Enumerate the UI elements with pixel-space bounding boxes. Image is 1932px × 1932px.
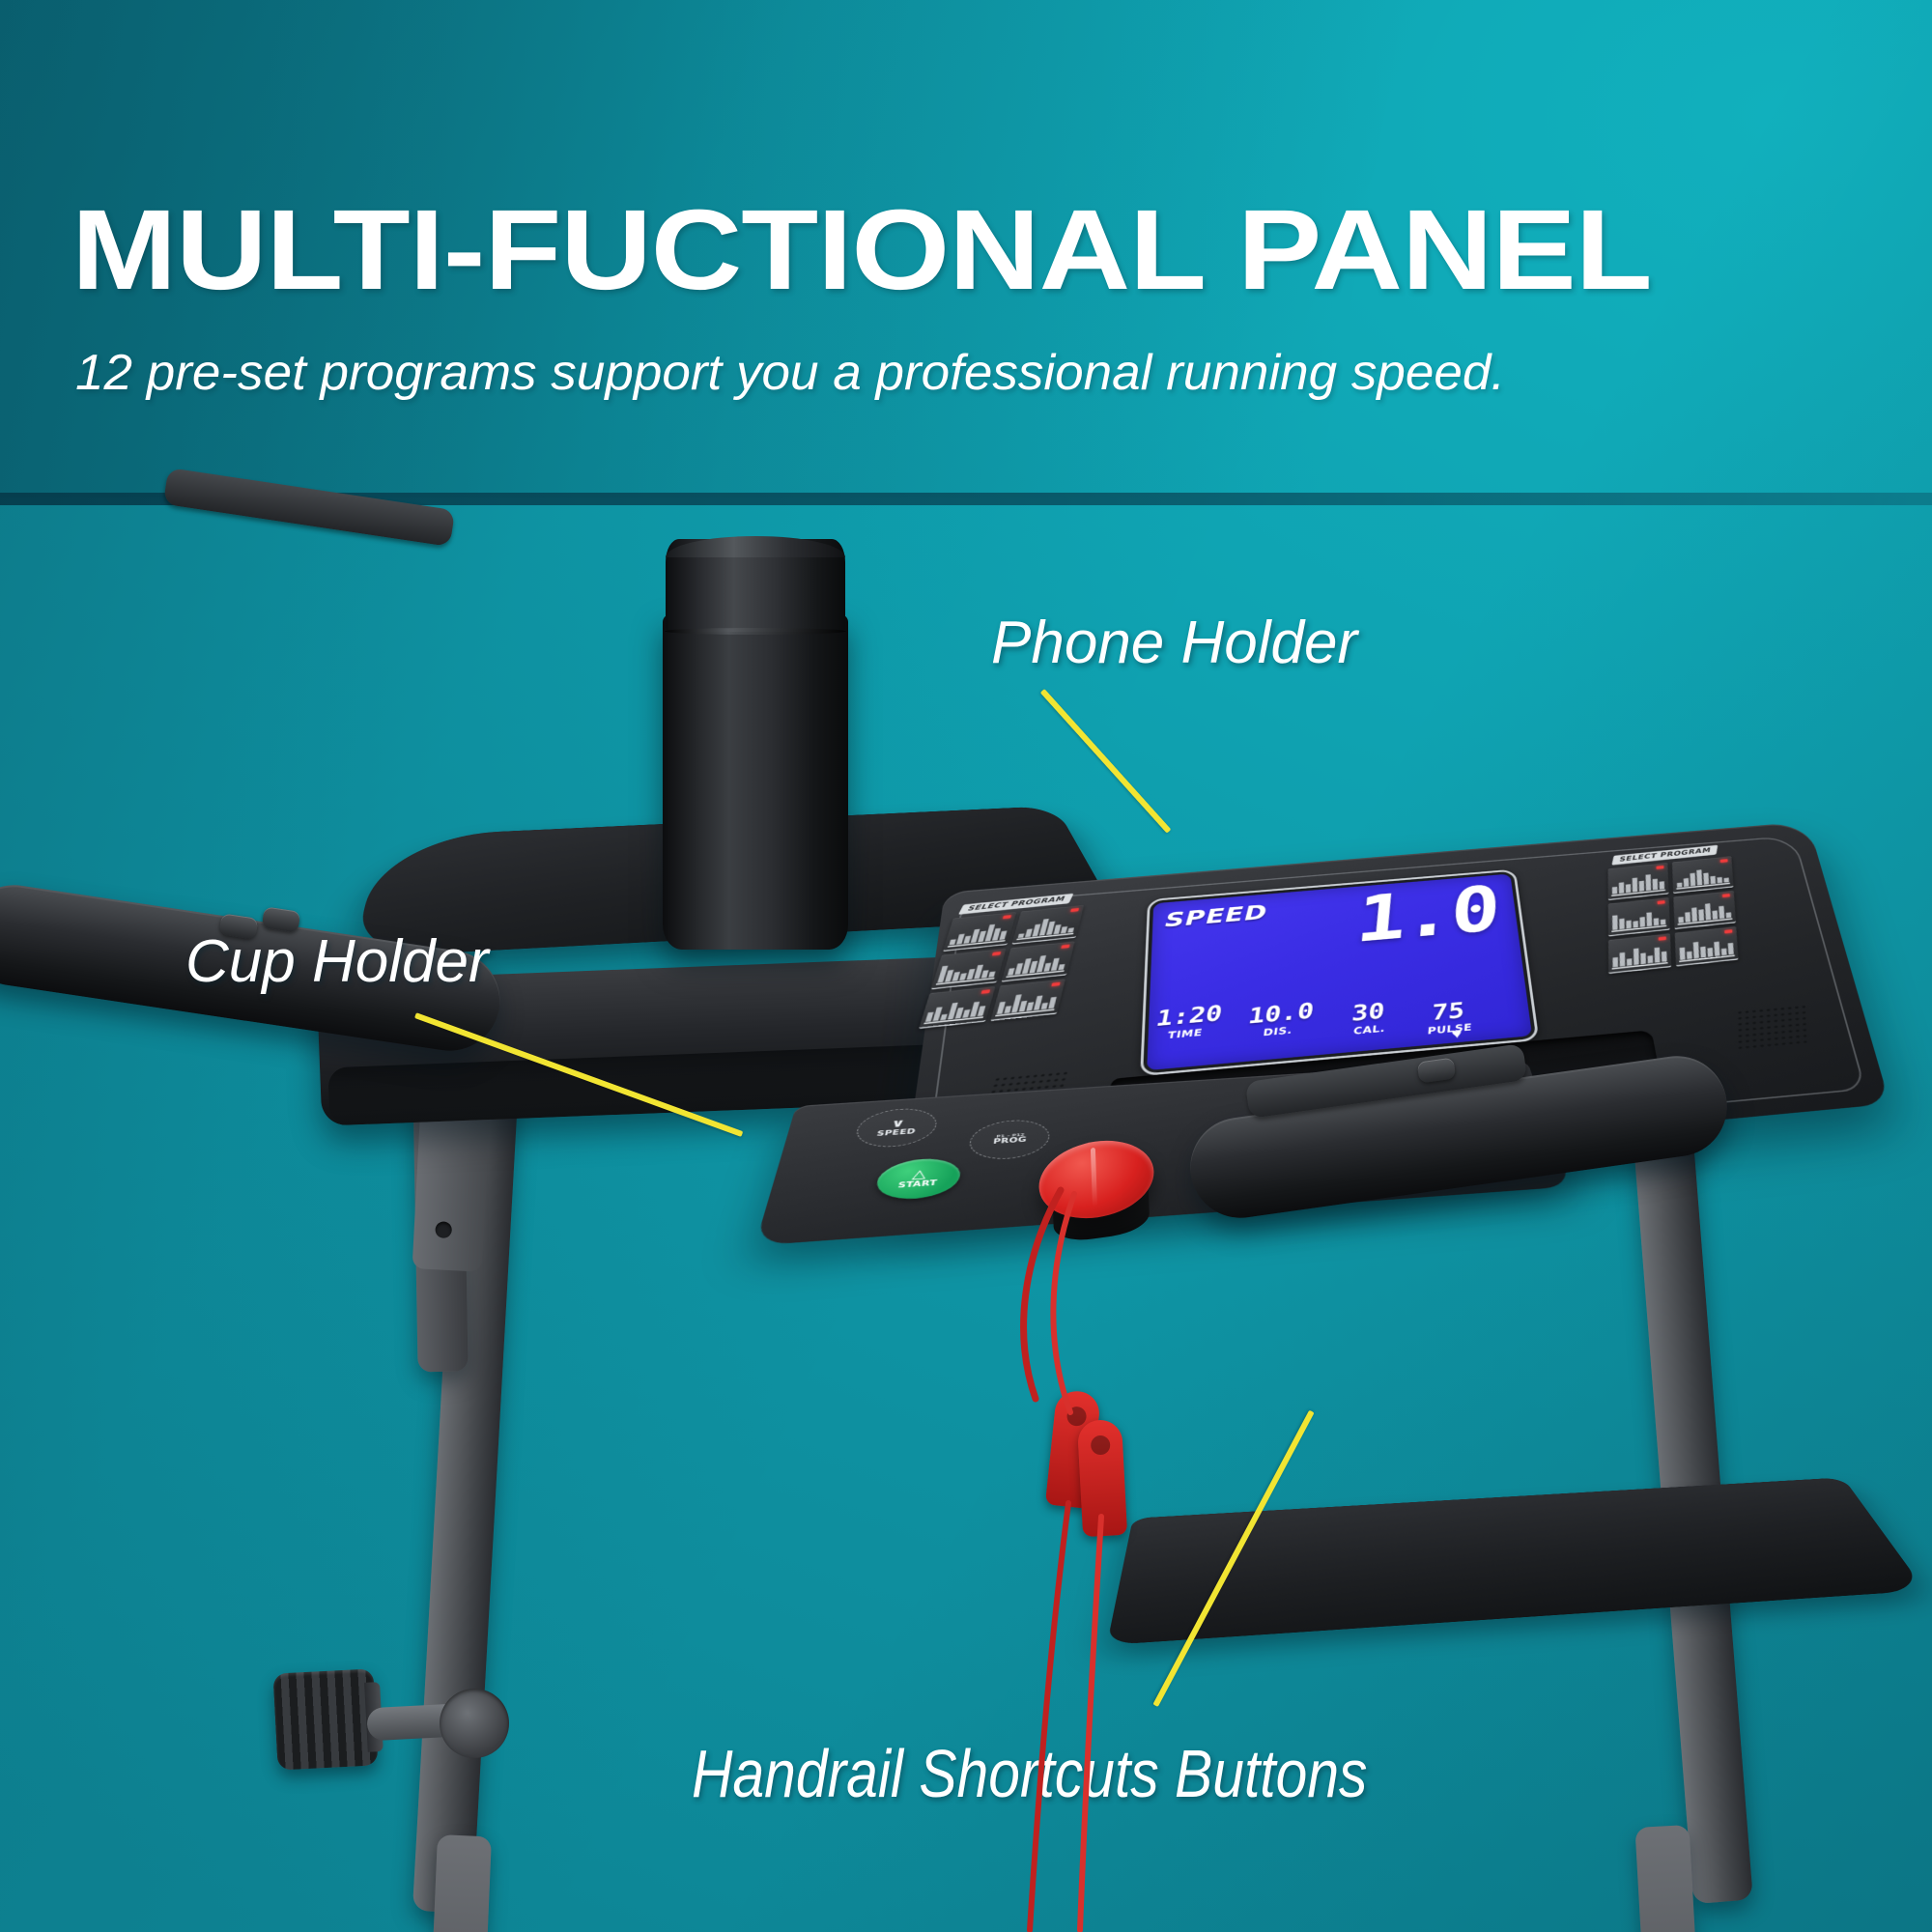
lcd-readout-distance: 10.0 DIS. <box>1248 1002 1307 1042</box>
led-indicator-icon <box>1052 982 1061 987</box>
product-photo: SPEED 1.0 1:20 TIME 10.0 DIS. 30 <box>0 502 1932 1932</box>
heart-icon: ♥ <box>1451 1027 1463 1041</box>
incline-adjust-knob[interactable] <box>272 1668 378 1770</box>
bottle-body <box>663 614 848 950</box>
callout-cup-holder: Cup Holder <box>185 927 489 996</box>
speed-down-button[interactable]: ∨ SPEED <box>853 1106 940 1149</box>
led-indicator-icon <box>1657 900 1664 904</box>
program-preset-button[interactable] <box>1673 891 1736 929</box>
clip-hole-icon <box>1066 1406 1088 1427</box>
lcd-screen: SPEED 1.0 1:20 TIME 10.0 DIS. 30 <box>1147 873 1532 1070</box>
speed-down-label: SPEED <box>876 1129 916 1138</box>
keypad-grid-right <box>1607 856 1738 974</box>
led-indicator-icon <box>1070 908 1079 912</box>
start-label: START <box>897 1180 938 1190</box>
led-indicator-icon <box>1658 937 1665 941</box>
lcd-readout-time: 1:20 TIME <box>1155 1004 1215 1044</box>
page-subtitle: 12 pre-set programs support you a profes… <box>75 348 1928 398</box>
lcd-main-value: 1.0 <box>1353 877 1499 952</box>
speaker-grille-right <box>1736 1004 1806 1049</box>
lcd-readout-pulse: 75 PULSE <box>1422 1000 1476 1039</box>
incline-knob-boss <box>440 1689 509 1758</box>
program-preset-button[interactable] <box>1674 926 1738 967</box>
bottle-cap <box>666 539 845 632</box>
promo-banner: MULTI-FUCTIONAL PANEL 12 pre-set program… <box>0 0 1932 1932</box>
program-preset-button[interactable] <box>931 949 1007 990</box>
program-preset-button[interactable] <box>1607 863 1668 900</box>
program-preset-button[interactable] <box>943 912 1017 952</box>
bottle-seam <box>665 628 846 635</box>
led-indicator-icon <box>1722 894 1730 897</box>
program-preset-button[interactable] <box>1608 933 1672 974</box>
program-preset-button[interactable] <box>1672 856 1734 894</box>
led-indicator-icon <box>1724 929 1732 933</box>
keypad-grid-left <box>919 905 1084 1029</box>
page-title: MULTI-FUCTIONAL PANEL <box>71 193 1932 307</box>
callout-phone-holder: Phone Holder <box>991 609 1357 677</box>
clip-hole-icon <box>1091 1435 1111 1456</box>
water-bottle <box>663 539 848 950</box>
program-preset-button[interactable] <box>1012 905 1085 945</box>
program-button[interactable]: P1 – P12 PROG <box>968 1118 1051 1161</box>
program-preset-button[interactable] <box>1607 897 1669 937</box>
safety-cord-clip <box>1077 1419 1127 1537</box>
program-preset-button[interactable] <box>1002 941 1075 981</box>
led-indicator-icon <box>1656 866 1663 869</box>
led-indicator-icon <box>981 989 991 994</box>
led-indicator-icon <box>1719 859 1727 863</box>
program-preset-button[interactable] <box>990 979 1065 1021</box>
program-preset-button[interactable] <box>919 986 996 1029</box>
start-button[interactable]: △ START <box>873 1156 963 1202</box>
led-indicator-icon <box>1062 945 1070 949</box>
callout-handrail-shortcuts: Handrail Shortcuts Buttons <box>692 1735 1367 1812</box>
lcd-readout-calories: 30 CAL. <box>1343 1001 1396 1040</box>
led-indicator-icon <box>992 952 1001 955</box>
led-indicator-icon <box>1003 915 1011 919</box>
bracket-hole-icon <box>435 1221 452 1238</box>
header-band: MULTI-FUCTIONAL PANEL 12 pre-set program… <box>0 0 1932 497</box>
lcd-mode-label: SPEED <box>1165 900 1268 932</box>
